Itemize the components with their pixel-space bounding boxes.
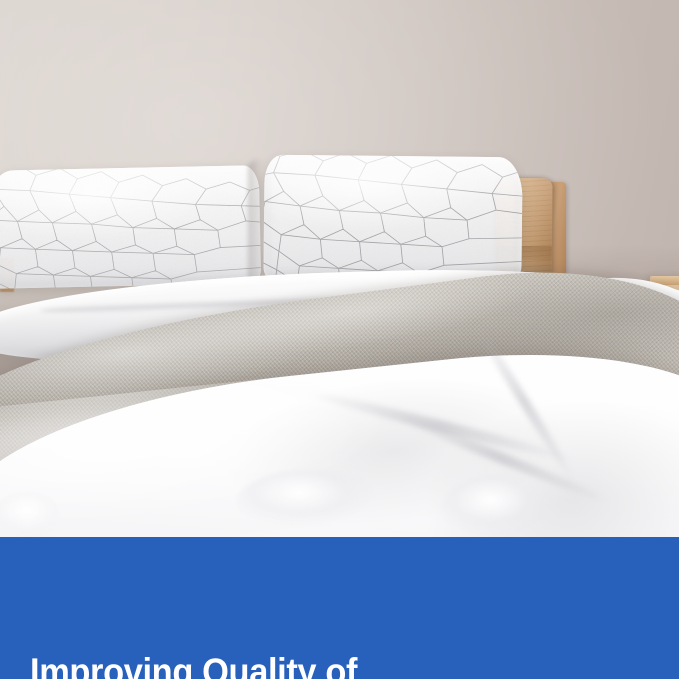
product-banner-image: Improving Quality of Life Starts with a … — [0, 0, 679, 679]
banner-headline-line-1: Improving Quality of — [30, 649, 495, 679]
pillow-right-sheen — [263, 155, 522, 284]
pillow-left-sheen — [0, 165, 261, 289]
pillow-gap-shadow — [248, 160, 270, 288]
duvet-lump-2 — [236, 470, 386, 536]
duvet-lump-1 — [440, 476, 560, 546]
promo-banner: Improving Quality of Life Starts with a … — [0, 537, 679, 679]
banner-headline: Improving Quality of Life Starts with a … — [30, 557, 495, 679]
memory-foam-pillow-left — [0, 165, 261, 289]
memory-foam-pillow-right — [263, 155, 522, 284]
